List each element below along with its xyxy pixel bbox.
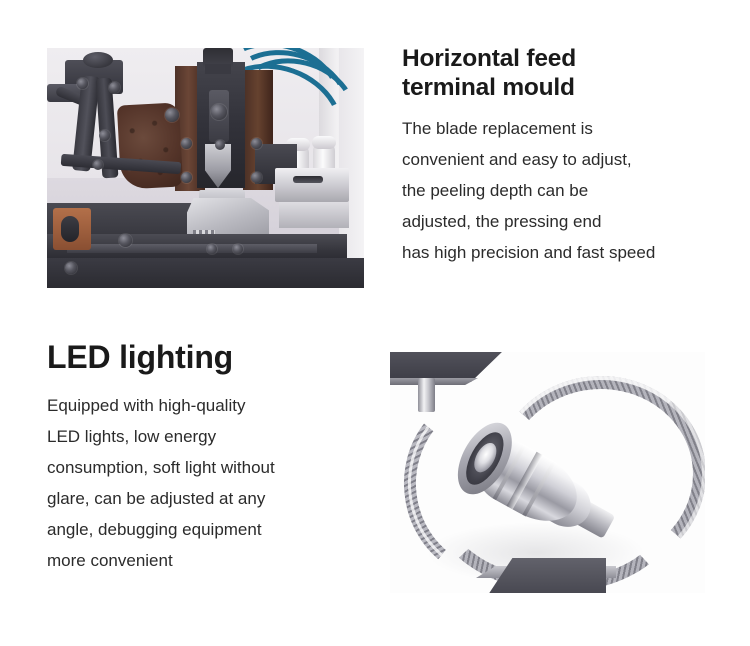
description-line: convenient and easy to adjust, <box>402 150 632 169</box>
hex-screw <box>207 244 217 254</box>
lamp-mount-stem <box>418 378 435 412</box>
heading-line-2: terminal mould <box>402 74 575 101</box>
description-line: The blade replacement is <box>402 119 593 138</box>
hex-screw <box>65 262 77 274</box>
hex-screw <box>215 140 225 150</box>
product-feature-page: Horizontal feed terminal mould The blade… <box>0 0 750 646</box>
led-gooseneck-lamp-photo <box>390 352 705 593</box>
hex-screw <box>233 244 243 254</box>
pneumatic-cylinder <box>275 168 349 202</box>
pneumatic-cylinder-base <box>279 202 349 228</box>
machine-bed-rail <box>67 244 317 253</box>
feature-description: The blade replacement is convenient and … <box>402 113 747 268</box>
description-line: angle, debugging equipment <box>47 520 262 539</box>
hex-screw <box>93 160 103 170</box>
description-line: the peeling depth can be <box>402 181 588 200</box>
hex-screw <box>251 138 262 149</box>
feature-text-led-lighting: LED lighting Equipped with high-quality … <box>47 338 382 576</box>
feature-text-terminal-mould: Horizontal feed terminal mould The blade… <box>402 44 747 268</box>
hex-screw <box>99 130 110 141</box>
feature-heading: LED lighting <box>47 338 382 376</box>
press-head-cap <box>205 64 231 74</box>
hex-screw-large <box>165 108 179 122</box>
heading-line-1: Horizontal feed <box>402 45 576 72</box>
copper-bracket-knob <box>61 216 79 242</box>
hex-screw <box>181 172 192 183</box>
hex-screw-large <box>211 104 227 120</box>
feature-block-terminal-mould: Horizontal feed terminal mould The blade… <box>0 0 750 310</box>
description-line: glare, can be adjusted at any <box>47 489 265 508</box>
description-line: more convenient <box>47 551 173 570</box>
adjust-knob <box>83 52 113 68</box>
hex-screw <box>181 138 192 149</box>
description-line: Equipped with high-quality <box>47 396 245 415</box>
horizontal-feed-terminal-mould-photo <box>47 48 364 288</box>
feature-heading: Horizontal feed terminal mould <box>402 44 747 102</box>
description-line: has high precision and fast speed <box>402 243 655 262</box>
hex-screw <box>119 234 132 247</box>
terminal-feed-rod <box>293 176 323 183</box>
hex-screw <box>251 172 262 183</box>
description-line: consumption, soft light without <box>47 458 275 477</box>
air-fitting-cap <box>312 136 336 149</box>
machine-base <box>47 258 364 288</box>
feature-description: Equipped with high-quality LED lights, l… <box>47 390 382 576</box>
hex-screw <box>77 78 88 89</box>
heading-line-1: LED lighting <box>47 339 233 375</box>
description-line: adjusted, the pressing end <box>402 212 601 231</box>
feature-block-led-lighting: LED lighting Equipped with high-quality … <box>0 310 750 646</box>
description-line: LED lights, low energy <box>47 427 216 446</box>
hex-screw <box>109 82 120 93</box>
